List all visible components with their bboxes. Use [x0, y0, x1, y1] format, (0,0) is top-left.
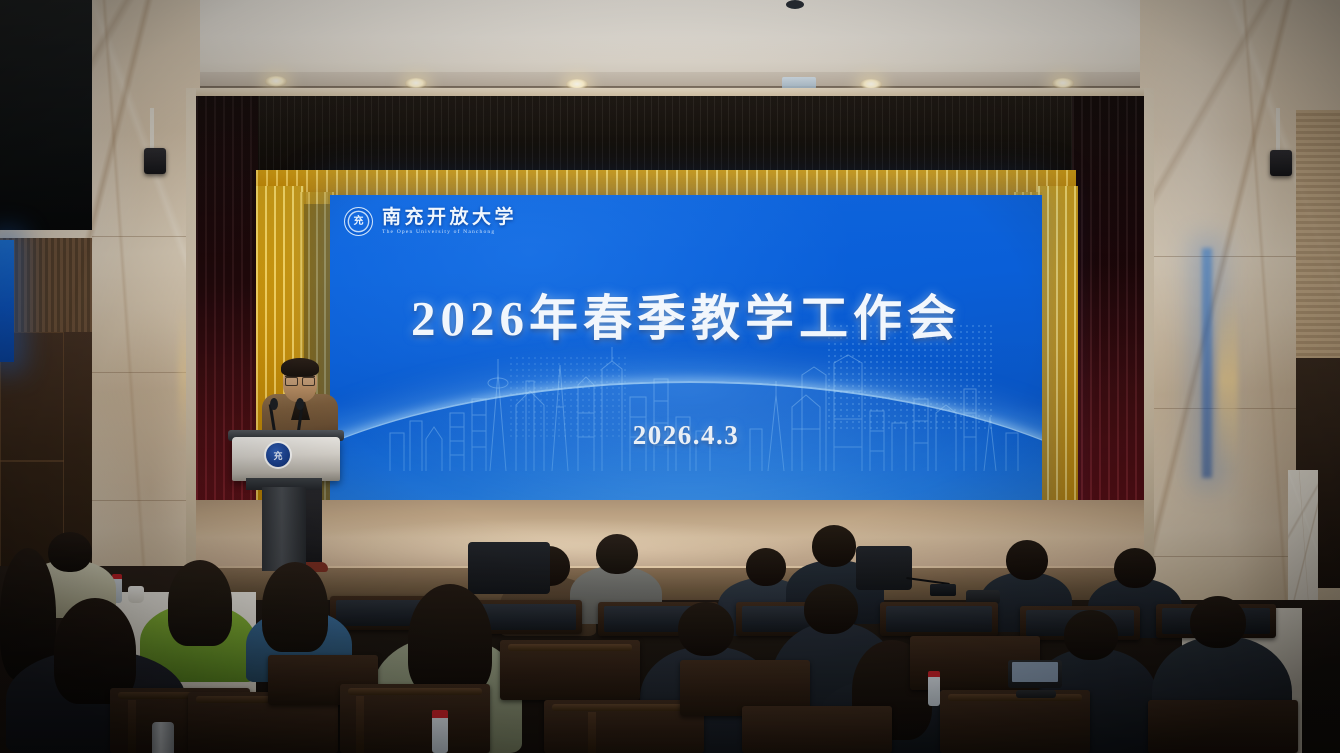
water-bottle — [928, 676, 940, 706]
presentation-date: 2026.4.3 — [330, 420, 1042, 451]
thermos — [152, 722, 174, 753]
audience-hair — [168, 560, 232, 646]
presentation-title: 2026年春季教学工作会 — [330, 279, 1042, 350]
podium-emblem-glyph: 充 — [273, 449, 282, 462]
presenter-hair — [281, 358, 319, 377]
chair-leg — [356, 696, 364, 753]
led-presentation-screen: 充 南充开放大学 The Open University of Nanchong… — [330, 195, 1042, 515]
right-speaker-rod — [1276, 108, 1280, 154]
bottle-cap — [432, 710, 448, 718]
podium-emblem-icon: 充 — [266, 443, 290, 467]
audience-head — [1114, 548, 1156, 588]
seal-glyph: 充 — [354, 217, 364, 227]
audio-control-box — [930, 584, 956, 596]
audience-head — [678, 602, 734, 656]
microphone-head-icon — [270, 398, 278, 410]
chair-back — [886, 606, 992, 632]
audience-head — [1064, 610, 1118, 660]
audience-head — [1190, 596, 1246, 648]
chair-rail — [552, 704, 696, 711]
podium-stem — [262, 487, 306, 571]
university-name-block: 南充开放大学 The Open University of Nanchong — [382, 208, 517, 236]
chair-rail — [948, 694, 1082, 701]
chair — [1148, 700, 1298, 753]
right-wall-uplight — [1218, 290, 1238, 470]
marble-seam — [92, 500, 200, 501]
tablet-device — [1016, 690, 1056, 698]
chair-rail — [348, 688, 482, 695]
left-ceiling-speaker — [144, 148, 166, 174]
right-wood-slats — [1296, 110, 1340, 360]
left-aux-display — [0, 240, 14, 362]
right-aux-display — [1202, 248, 1212, 478]
conference-hall-photo: 充 南充开放大学 The Open University of Nanchong… — [0, 0, 1340, 753]
audience-head — [812, 525, 856, 567]
bottle-cap — [928, 671, 940, 677]
university-name-cn: 南充开放大学 — [382, 208, 517, 228]
ceiling-camera-icon — [786, 0, 804, 9]
university-name-en: The Open University of Nanchong — [382, 229, 517, 235]
water-bottle — [432, 716, 448, 753]
right-ceiling-speaker — [1270, 150, 1292, 176]
stage-monitor — [468, 542, 550, 594]
marble-seam — [92, 236, 200, 237]
left-upper-dark-panel — [0, 0, 92, 230]
audience-head — [596, 534, 638, 574]
ceiling-downlight — [265, 76, 287, 87]
laptop-screen — [1012, 662, 1058, 682]
audience-hair — [262, 562, 328, 652]
presenter-glasses-icon — [285, 376, 315, 384]
proscenium-right-frame — [1144, 88, 1154, 608]
microphone-head-icon — [296, 398, 304, 410]
audience-head — [804, 584, 858, 634]
audience-head — [1006, 540, 1048, 580]
chair-leg — [588, 712, 596, 753]
proscenium-left-frame — [186, 88, 196, 608]
chair — [742, 706, 892, 753]
stage-monitor — [856, 546, 912, 590]
university-seal-icon: 充 — [344, 207, 373, 236]
tea-cup — [128, 586, 144, 603]
audience-head — [48, 532, 92, 572]
chair-leg — [128, 700, 136, 753]
left-speaker-rod — [150, 108, 154, 152]
audience-hair — [408, 584, 492, 696]
university-logo: 充 南充开放大学 The Open University of Nanchong — [344, 207, 517, 236]
audience-head — [746, 548, 786, 586]
chair-rail — [508, 644, 632, 651]
